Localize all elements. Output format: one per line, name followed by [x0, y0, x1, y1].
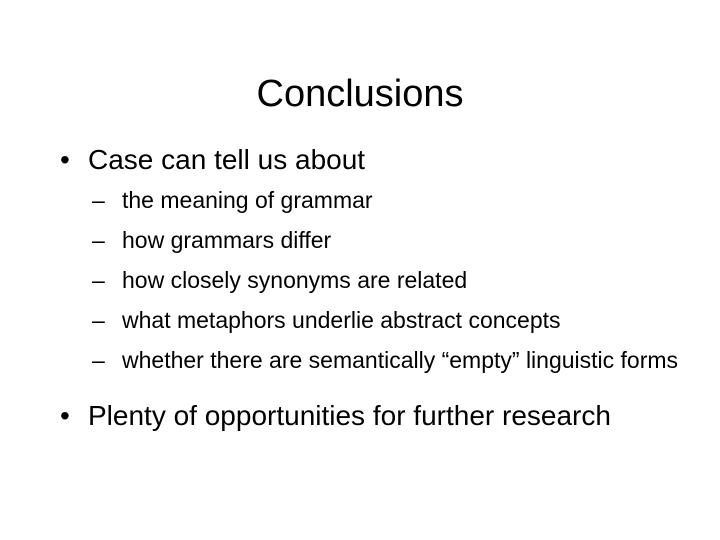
sub-bullet-item-whether-there-are-semantically-empty-linguistic-forms: – whether there are semantically “empty”… [92, 346, 720, 375]
bullet-item-case-can-tell-us-about: • Case can tell us about – the meaning o… [0, 142, 720, 375]
sub-bullet-label: the meaning of grammar [122, 186, 720, 215]
dash-marker-icon: – [92, 306, 105, 335]
dash-marker-icon: – [92, 346, 105, 375]
dash-marker-icon: – [92, 266, 105, 295]
bullet-label: Plenty of opportunities for further rese… [88, 398, 648, 433]
sub-bullet-item-the-meaning-of-grammar: – the meaning of grammar [92, 186, 720, 215]
dash-marker-icon: – [92, 186, 105, 215]
bullet-list-level2: – the meaning of grammar – how grammars … [88, 186, 720, 375]
sub-bullet-label: whether there are semantically “empty” l… [122, 346, 682, 375]
sub-bullet-label: how grammars differ [122, 226, 720, 255]
sub-bullet-item-what-metaphors-underlie-abstract-concepts: – what metaphors underlie abstract conce… [92, 306, 720, 335]
bullet-label: Case can tell us about [88, 142, 720, 177]
sub-bullet-label: how closely synonyms are related [122, 266, 720, 295]
sub-bullet-item-how-grammars-differ: – how grammars differ [92, 226, 720, 255]
bullet-spacer [0, 375, 720, 398]
bullet-item-plenty-of-opportunities-for-further-research: • Plenty of opportunities for further re… [0, 398, 720, 433]
sub-bullet-label: what metaphors underlie abstract concept… [122, 306, 720, 335]
dash-marker-icon: – [92, 226, 105, 255]
bullet-marker-icon: • [60, 142, 70, 177]
slide: Conclusions • Case can tell us about – t… [0, 0, 720, 540]
slide-body: • Case can tell us about – the meaning o… [0, 142, 720, 433]
sub-bullet-item-how-closely-synonyms-are-related: – how closely synonyms are related [92, 266, 720, 295]
slide-title: Conclusions [0, 72, 720, 116]
bullet-marker-icon: • [60, 398, 70, 433]
bullet-list-level1: • Case can tell us about – the meaning o… [0, 142, 720, 433]
